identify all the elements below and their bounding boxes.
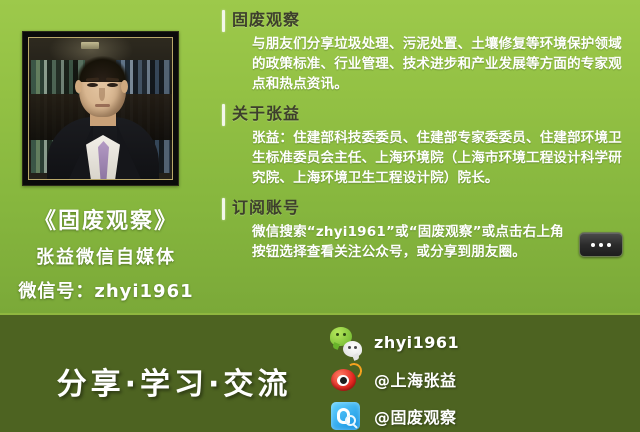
portrait-frame xyxy=(22,31,179,186)
poster-canvas: 《固废观察》 张益微信自媒体 微信号：zhyi1961 固废观察 与朋友们分享垃… xyxy=(0,0,640,432)
eye-left xyxy=(87,83,98,87)
soso-handle: @固废观察 xyxy=(374,404,457,428)
social-row-weibo[interactable]: @上海张益 xyxy=(330,361,505,397)
section-title: 订阅账号 xyxy=(232,198,300,217)
wechat-eye-2 xyxy=(343,333,346,336)
wechat-bubble-small xyxy=(343,341,362,357)
slogan-text: 分享·学习·交流 xyxy=(24,359,324,403)
magnifier-icon xyxy=(345,415,356,426)
account-subtitle: 张益微信自媒体 xyxy=(0,243,212,269)
wechat-icon xyxy=(330,326,362,358)
section-marker-bar xyxy=(222,198,225,220)
social-links: zhyi1961 @上海张益 @固废观察 xyxy=(330,324,505,432)
weibo-handle: @上海张益 xyxy=(374,367,457,391)
weibo-icon xyxy=(330,363,362,395)
wechat-id-line: 微信号：zhyi1961 xyxy=(0,277,212,303)
section-body: 与朋友们分享垃圾处理、污泥处置、土壤修复等环境保护领域的政策标准、行业管理、技术… xyxy=(218,34,632,94)
hair xyxy=(76,56,129,82)
soso-tile xyxy=(331,402,360,430)
section-title: 关于张益 xyxy=(232,104,300,123)
profile-column: 《固废观察》 张益微信自媒体 微信号：zhyi1961 xyxy=(0,0,212,316)
account-title: 《固废观察》 xyxy=(0,203,212,235)
ear-left xyxy=(75,80,82,93)
social-row-soso[interactable]: @固废观察 xyxy=(330,398,505,432)
section-subscribe: 订阅账号 微信搜索“zhyi1961”或“固废观察”或点击右上角按钮选择查看关注… xyxy=(218,196,632,262)
dot-1 xyxy=(591,243,595,247)
ear-right xyxy=(121,80,128,93)
dot-3 xyxy=(607,243,611,247)
ellipsis-icon[interactable] xyxy=(579,232,623,257)
wechat-eye-3 xyxy=(348,346,351,349)
section-header: 订阅账号 xyxy=(218,196,632,222)
section-header: 固废观察 xyxy=(218,8,632,34)
portrait-inner-border xyxy=(28,37,173,180)
wechat-eye-1 xyxy=(336,333,339,336)
eye-right xyxy=(107,83,118,87)
section-marker-bar xyxy=(222,10,225,32)
soso-search-icon xyxy=(330,400,362,432)
section-body: 张益：住建部科技委委员、住建部专家委委员、住建部环境卫生标准委员会主任、上海环境… xyxy=(218,128,632,188)
sections-column: 固废观察 与朋友们分享垃圾处理、污泥处置、土壤修复等环境保护领域的政策标准、行业… xyxy=(218,8,632,270)
section-about-account: 固废观察 与朋友们分享垃圾处理、污泥处置、土壤修复等环境保护领域的政策标准、行业… xyxy=(218,8,632,94)
section-title: 固废观察 xyxy=(232,10,300,29)
portrait-photo xyxy=(29,38,172,179)
ceiling-light xyxy=(81,42,99,49)
wechat-handle: zhyi1961 xyxy=(374,333,459,352)
section-about-person: 关于张益 张益：住建部科技委委员、住建部专家委委员、住建部环境卫生标准委员会主任… xyxy=(218,102,632,188)
section-marker-bar xyxy=(222,104,225,126)
mouth xyxy=(95,104,110,107)
section-body: 微信搜索“zhyi1961”或“固废观察”或点击右上角按钮选择查看关注公众号，或… xyxy=(218,222,632,262)
social-row-wechat[interactable]: zhyi1961 xyxy=(330,324,505,360)
nose xyxy=(99,88,105,101)
wechat-eye-4 xyxy=(354,346,357,349)
footer-bar: 分享·学习·交流 zhyi1961 xyxy=(0,313,640,432)
dot-2 xyxy=(599,243,603,247)
section-header: 关于张益 xyxy=(218,102,632,128)
